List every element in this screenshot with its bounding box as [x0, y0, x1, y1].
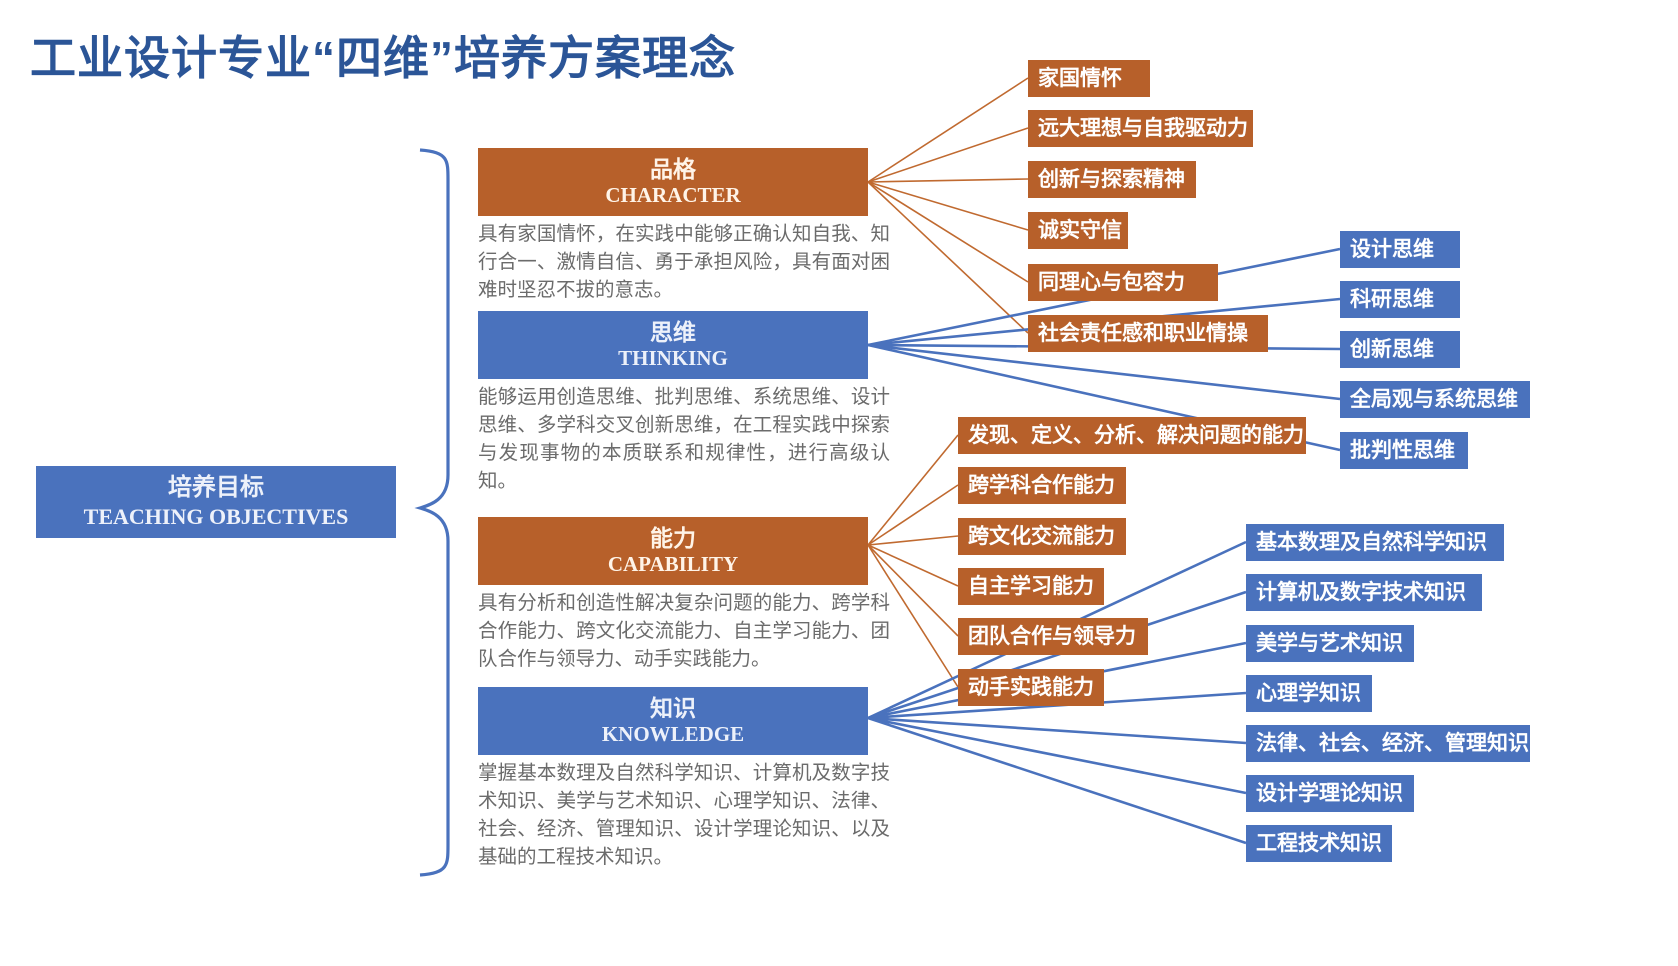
pillar-character-description: 具有家国情怀，在实践中能够正确认知自我、知行合一、激情自信、勇于承担风险，具有面… [478, 220, 890, 304]
node-character-3[interactable]: 创新与探索精神 [1028, 161, 1196, 198]
node-capability-1[interactable]: 发现、定义、分析、解决问题的能力 [958, 417, 1306, 454]
node-capability-4[interactable]: 自主学习能力 [958, 568, 1104, 605]
node-capability-3[interactable]: 跨文化交流能力 [958, 518, 1126, 555]
pillar-knowledge-cn: 知识 [650, 695, 696, 721]
pillar-capability-description: 具有分析和创造性解决复杂问题的能力、跨学科合作能力、跨文化交流能力、自主学习能力… [478, 589, 890, 673]
pillar-thinking-description: 能够运用创造思维、批判思维、系统思维、设计思维、多学科交叉创新思维，在工程实践中… [478, 383, 890, 495]
node-knowledge-1[interactable]: 基本数理及自然科学知识 [1246, 524, 1504, 561]
node-thinking-1[interactable]: 设计思维 [1340, 231, 1460, 268]
node-thinking-4[interactable]: 全局观与系统思维 [1340, 381, 1530, 418]
diagram-canvas: 工业设计专业“四维”培养方案理念 [0, 0, 1678, 966]
pillar-header-capability[interactable]: 能力 CAPABILITY [478, 517, 868, 585]
pillar-knowledge-en: KNOWLEDGE [602, 722, 744, 747]
pillar-knowledge-description: 掌握基本数理及自然科学知识、计算机及数字技术知识、美学与艺术知识、心理学知识、法… [478, 759, 890, 871]
pillar-header-character[interactable]: 品格 CHARACTER [478, 148, 868, 216]
node-thinking-5[interactable]: 批判性思维 [1340, 432, 1468, 469]
node-character-1[interactable]: 家国情怀 [1028, 60, 1150, 97]
node-knowledge-7[interactable]: 工程技术知识 [1246, 825, 1392, 862]
objective-label-cn: 培养目标 [168, 474, 264, 503]
pillar-header-knowledge[interactable]: 知识 KNOWLEDGE [478, 687, 868, 755]
pillar-capability-en: CAPABILITY [608, 552, 738, 577]
pillar-capability-cn: 能力 [650, 525, 696, 551]
node-knowledge-3[interactable]: 美学与艺术知识 [1246, 625, 1414, 662]
node-thinking-3[interactable]: 创新思维 [1340, 331, 1460, 368]
node-capability-5[interactable]: 团队合作与领导力 [958, 618, 1148, 655]
node-character-5[interactable]: 同理心与包容力 [1028, 264, 1218, 301]
node-knowledge-4[interactable]: 心理学知识 [1246, 675, 1372, 712]
objective-label-en: TEACHING OBJECTIVES [84, 503, 349, 531]
node-knowledge-6[interactable]: 设计学理论知识 [1246, 775, 1414, 812]
node-knowledge-5[interactable]: 法律、社会、经济、管理知识 [1246, 725, 1530, 762]
pillar-character-cn: 品格 [650, 156, 696, 182]
node-capability-6[interactable]: 动手实践能力 [958, 669, 1104, 706]
pillar-thinking-en: THINKING [618, 346, 728, 371]
pillar-header-thinking[interactable]: 思维 THINKING [478, 311, 868, 379]
pillar-character-en: CHARACTER [605, 183, 740, 208]
teaching-objectives-box[interactable]: 培养目标 TEACHING OBJECTIVES [36, 466, 396, 538]
node-capability-2[interactable]: 跨学科合作能力 [958, 467, 1126, 504]
node-character-6[interactable]: 社会责任感和职业情操 [1028, 315, 1268, 352]
node-knowledge-2[interactable]: 计算机及数字技术知识 [1246, 574, 1482, 611]
page-title: 工业设计专业“四维”培养方案理念 [30, 22, 736, 88]
node-character-2[interactable]: 远大理想与自我驱动力 [1028, 110, 1253, 147]
node-thinking-2[interactable]: 科研思维 [1340, 281, 1460, 318]
node-character-4[interactable]: 诚实守信 [1028, 212, 1128, 249]
pillar-thinking-cn: 思维 [650, 319, 696, 345]
